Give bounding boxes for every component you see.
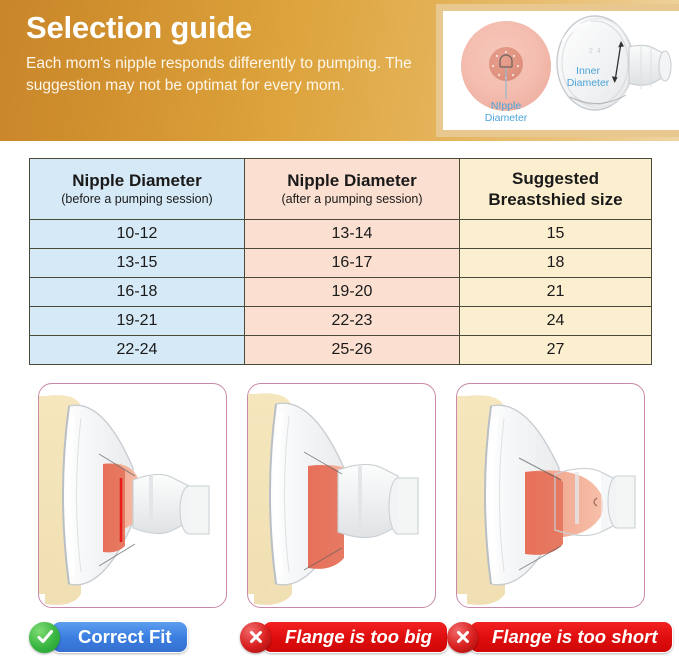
cell-suggested: 21 <box>460 278 652 307</box>
size-guide-table: Nipple Diameter (before a pumping sessio… <box>29 158 652 365</box>
nipple-diameter-label-line1: NIpple <box>491 100 522 112</box>
inner-diameter-label-line1: Inner <box>576 65 600 77</box>
flange-too-short-illustration <box>457 384 643 606</box>
check-icon <box>29 622 60 653</box>
x-icon <box>447 622 478 653</box>
header-before-main: Nipple Diameter <box>34 170 240 191</box>
page-title: Selection guide <box>26 8 426 48</box>
cell-after: 16-17 <box>245 249 460 278</box>
header-nipple-diameter-before: Nipple Diameter (before a pumping sessio… <box>30 159 245 220</box>
cell-suggested: 27 <box>460 336 652 365</box>
badge-flange-too-short[interactable]: Flange is too short <box>447 616 673 658</box>
header-after-sub: (after a pumping session) <box>249 191 455 208</box>
selection-guide-page: Selection guide Each mom's nipple respon… <box>0 0 679 658</box>
size-guide-table-wrapper: Nipple Diameter (before a pumping sessio… <box>29 158 651 365</box>
fit-illustration-panels <box>0 383 679 608</box>
header-before-sub: (before a pumping session) <box>34 191 240 208</box>
table-row: 19-21 22-23 24 <box>30 307 652 336</box>
cell-before: 22-24 <box>30 336 245 365</box>
cell-before: 19-21 <box>30 307 245 336</box>
banner-text-block: Selection guide Each mom's nipple respon… <box>26 8 426 96</box>
cell-suggested: 15 <box>460 220 652 249</box>
badge-label-flange-too-short: Flange is too short <box>469 621 673 653</box>
header-banner: Selection guide Each mom's nipple respon… <box>0 0 679 141</box>
x-icon <box>240 622 271 653</box>
header-suggested-line1: Suggested <box>464 168 647 189</box>
table-row: 13-15 16-17 18 <box>30 249 652 278</box>
correct-fit-illustration <box>39 384 225 606</box>
breast-shield-shape: 2 4 <box>557 16 634 110</box>
inner-diameter-label-line2: Diameter <box>567 77 610 89</box>
panel-flange-too-short <box>456 383 645 608</box>
table-row: 10-12 13-14 15 <box>30 220 652 249</box>
badge-label-flange-too-big: Flange is too big <box>262 621 448 653</box>
badge-label-correct-fit: Correct Fit <box>51 621 188 653</box>
cell-suggested: 24 <box>460 307 652 336</box>
cell-before: 13-15 <box>30 249 245 278</box>
fit-verdict-badges: Correct Fit Flange is too big Flange is … <box>0 616 679 658</box>
cell-after: 19-20 <box>245 278 460 307</box>
badge-correct-fit[interactable]: Correct Fit <box>29 616 188 658</box>
cell-suggested: 18 <box>460 249 652 278</box>
header-nipple-diameter-after: Nipple Diameter (after a pumping session… <box>245 159 460 220</box>
banner-subtitle: Each mom's nipple responds differently t… <box>26 53 436 96</box>
cell-before: 16-18 <box>30 278 245 307</box>
table-row: 16-18 19-20 21 <box>30 278 652 307</box>
table-header-row: Nipple Diameter (before a pumping sessio… <box>30 159 652 220</box>
nipple-diameter-label-line2: Diameter <box>485 112 528 124</box>
header-after-main: Nipple Diameter <box>249 170 455 191</box>
table-row: 22-24 25-26 27 <box>30 336 652 365</box>
connector-tube <box>629 45 671 89</box>
svg-text:2 4: 2 4 <box>589 48 602 55</box>
nipple-in-flange <box>525 470 603 555</box>
flange-too-big-illustration <box>248 384 434 606</box>
cell-after: 13-14 <box>245 220 460 249</box>
cell-after: 25-26 <box>245 336 460 365</box>
nipple-and-flange-diagram: 2 4 <box>443 11 679 130</box>
badge-flange-too-big[interactable]: Flange is too big <box>240 616 448 658</box>
hero-illustration-frame: 2 4 <box>436 4 679 137</box>
header-suggested-line2: Breastshied size <box>464 189 647 210</box>
cell-before: 10-12 <box>30 220 245 249</box>
panel-correct-fit <box>38 383 227 608</box>
panel-flange-too-big <box>247 383 436 608</box>
header-suggested-size: Suggested Breastshied size <box>460 159 652 220</box>
hero-illustration: 2 4 <box>443 11 679 130</box>
cell-after: 22-23 <box>245 307 460 336</box>
